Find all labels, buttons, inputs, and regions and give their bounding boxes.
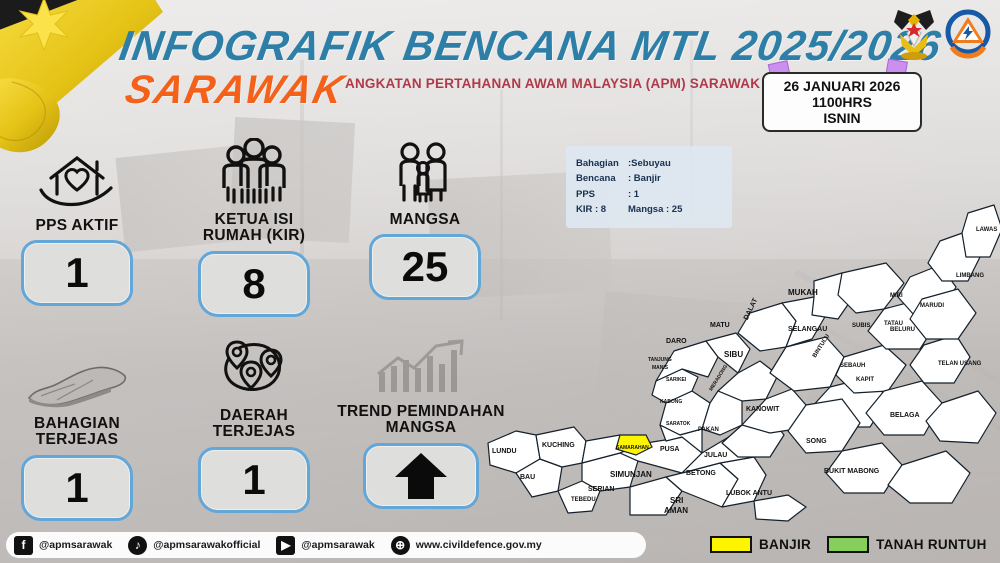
svg-text:SONG: SONG — [806, 438, 827, 445]
svg-text:SERIAN: SERIAN — [588, 486, 614, 493]
svg-text:MUKAH: MUKAH — [788, 288, 818, 297]
stat-bahagian-terjejas: BAHAGIAN TERJEJAS 1 — [8, 348, 146, 521]
map-pins-icon — [185, 340, 323, 402]
apm-civil-defence-logo — [944, 9, 992, 61]
social-footer-bar: f @apmsarawak ♪ @apmsarawakofficial ▶ @a… — [6, 532, 646, 558]
svg-text:BELAGA: BELAGA — [890, 412, 920, 419]
footer-handle: @apmsarawakofficial — [153, 539, 260, 551]
stat-value-box — [363, 443, 479, 509]
stat-value-box: 1 — [21, 455, 133, 521]
sarawak-district-map[interactable]: LUNDU BAU KUCHING TEBEDU SERIAN SIMUNJAN… — [470, 185, 1000, 530]
row-key: Bencana — [576, 173, 628, 184]
svg-text:AMAN: AMAN — [664, 506, 688, 515]
row-key: Bahagian — [576, 158, 628, 169]
sarawak-state-crest — [890, 6, 938, 64]
svg-text:SAMARAHAN: SAMARAHAN — [616, 445, 649, 451]
svg-text:DARO: DARO — [666, 338, 687, 345]
legend-item-tanah-runtuh: TANAH RUNTUH — [827, 536, 987, 553]
svg-text:PUSA: PUSA — [660, 446, 679, 453]
footer-item-facebook[interactable]: f @apmsarawak — [14, 536, 112, 555]
svg-text:BELURU: BELURU — [890, 327, 915, 333]
borneo-map-icon — [8, 348, 146, 410]
time-text: 1100HRS — [812, 94, 872, 110]
stat-value-box: 1 — [198, 447, 310, 513]
stat-daerah-terjejas: DAERAH TERJEJAS 1 — [185, 340, 323, 513]
stat-value: 1 — [65, 467, 88, 509]
facebook-icon: f — [14, 536, 33, 555]
svg-text:TANJUNG: TANJUNG — [648, 357, 672, 363]
people-group-icon — [185, 144, 323, 206]
page-title: INFOGRAFIK BENCANA MTL 2025/2026 — [116, 22, 944, 70]
stat-label: BAHAGIAN TERJEJAS — [8, 416, 146, 449]
svg-text:MIRI: MIRI — [890, 293, 903, 299]
stat-value: 8 — [242, 263, 265, 305]
svg-text:LUBOK ANTU: LUBOK ANTU — [726, 490, 772, 497]
youtube-icon: ▶ — [276, 536, 295, 555]
footer-handle: @apmsarawak — [39, 539, 112, 551]
stat-label: DAERAH TERJEJAS — [185, 408, 323, 441]
svg-text:KUCHING: KUCHING — [542, 442, 575, 449]
svg-text:LAWAS: LAWAS — [976, 227, 997, 233]
svg-text:JULAU: JULAU — [704, 452, 727, 459]
house-heart-hand-icon — [8, 150, 146, 212]
svg-text:TELAN USANG: TELAN USANG — [938, 361, 982, 367]
tiktok-icon: ♪ — [128, 536, 147, 555]
svg-text:BUKIT MABONG: BUKIT MABONG — [824, 468, 880, 475]
legend-swatch-tanah-runtuh — [827, 536, 869, 553]
map-legend: BANJIR TANAH RUNTUH — [710, 536, 987, 553]
stat-label: PPS AKTIF — [8, 218, 146, 234]
svg-text:MARUDI: MARUDI — [920, 303, 944, 309]
date-text: 26 JANUARI 2026 — [784, 78, 901, 94]
organisation-line: ANGKATAN PERTAHANAN AWAM MALAYSIA (APM) … — [345, 76, 760, 91]
svg-text:KAPIT: KAPIT — [856, 377, 874, 383]
svg-text:BETONG: BETONG — [686, 470, 716, 477]
svg-text:KANOWIT: KANOWIT — [746, 406, 780, 413]
stat-value: 25 — [402, 246, 449, 288]
svg-text:SIMUNJAN: SIMUNJAN — [610, 470, 652, 479]
svg-text:SUBIS: SUBIS — [852, 323, 870, 329]
stat-value-box: 1 — [21, 240, 133, 306]
svg-text:SIBU: SIBU — [724, 350, 743, 359]
legend-swatch-banjir — [710, 536, 752, 553]
stat-value-box: 25 — [369, 234, 481, 300]
svg-text:SARATOK: SARATOK — [666, 421, 691, 427]
legend-label: TANAH RUNTUH — [876, 537, 987, 552]
row-value: :Sebuyau — [628, 158, 722, 169]
footer-handle: @apmsarawak — [301, 539, 374, 551]
footer-item-website[interactable]: ⊕ www.civildefence.gov.my — [391, 536, 542, 555]
stat-ketua-isi-rumah: KETUA ISI RUMAH (KIR) 8 — [185, 144, 323, 317]
footer-item-youtube[interactable]: ▶ @apmsarawak — [276, 536, 374, 555]
table-row: Bencana : Banjir — [576, 173, 722, 184]
svg-text:SRI: SRI — [670, 496, 683, 505]
svg-text:MATU: MATU — [710, 322, 730, 329]
svg-text:LIMBANG: LIMBANG — [956, 273, 984, 279]
page-subtitle-sarawak: SARAWAK — [121, 68, 349, 113]
globe-icon: ⊕ — [391, 536, 410, 555]
stat-value: 1 — [242, 459, 265, 501]
legend-item-banjir: BANJIR — [710, 536, 811, 553]
stat-label: KETUA ISI RUMAH (KIR) — [185, 212, 323, 245]
svg-text:PAKAN: PAKAN — [698, 427, 719, 433]
logo-group — [890, 6, 992, 64]
footer-item-tiktok[interactable]: ♪ @apmsarawakofficial — [128, 536, 260, 555]
svg-text:SELANGAU: SELANGAU — [788, 326, 827, 333]
svg-text:SARIKEI: SARIKEI — [666, 377, 687, 383]
arrow-up-icon — [392, 451, 450, 501]
svg-text:KABONG: KABONG — [660, 399, 682, 405]
footer-url: www.civildefence.gov.my — [416, 539, 542, 551]
svg-text:TEBEDU: TEBEDU — [571, 497, 596, 503]
infographic-canvas: INFOGRAFIK BENCANA MTL 2025/2026 SARAWAK… — [0, 0, 1000, 563]
table-row: Bahagian :Sebuyau — [576, 158, 722, 169]
stat-pps-aktif: PPS AKTIF 1 — [8, 150, 146, 306]
svg-text:LUNDU: LUNDU — [492, 448, 517, 455]
day-text: ISNIN — [823, 110, 860, 126]
stat-value: 1 — [65, 252, 88, 294]
svg-text:SEBAUH: SEBAUH — [840, 363, 865, 369]
row-value: : Banjir — [628, 173, 722, 184]
date-card: 26 JANUARI 2026 1100HRS ISNIN — [762, 72, 922, 132]
svg-text:BAU: BAU — [520, 474, 535, 481]
stat-value-box: 8 — [198, 251, 310, 317]
svg-text:MANIS: MANIS — [652, 365, 669, 371]
legend-label: BANJIR — [759, 537, 811, 552]
